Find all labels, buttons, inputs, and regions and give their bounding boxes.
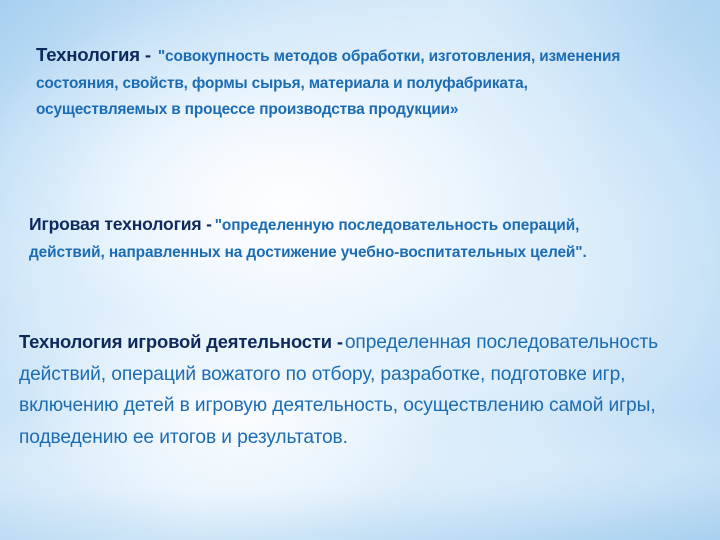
slide-canvas: Технология -"совокупность методов обрабо… xyxy=(0,0,720,540)
definition-term-technology: Технология - xyxy=(36,44,158,65)
slide-content: Технология -"совокупность методов обрабо… xyxy=(0,0,720,540)
definition-block-game-technology: Игровая технология -"определенную послед… xyxy=(29,211,654,266)
definition-term-game-technology: Игровая технология - xyxy=(29,214,215,234)
definition-block-technology: Технология -"совокупность методов обрабо… xyxy=(36,42,646,124)
definition-block-game-activity-technology: Технология игровой деятельности -определ… xyxy=(19,326,659,453)
definition-term-game-activity-technology: Технология игровой деятельности - xyxy=(19,331,345,352)
